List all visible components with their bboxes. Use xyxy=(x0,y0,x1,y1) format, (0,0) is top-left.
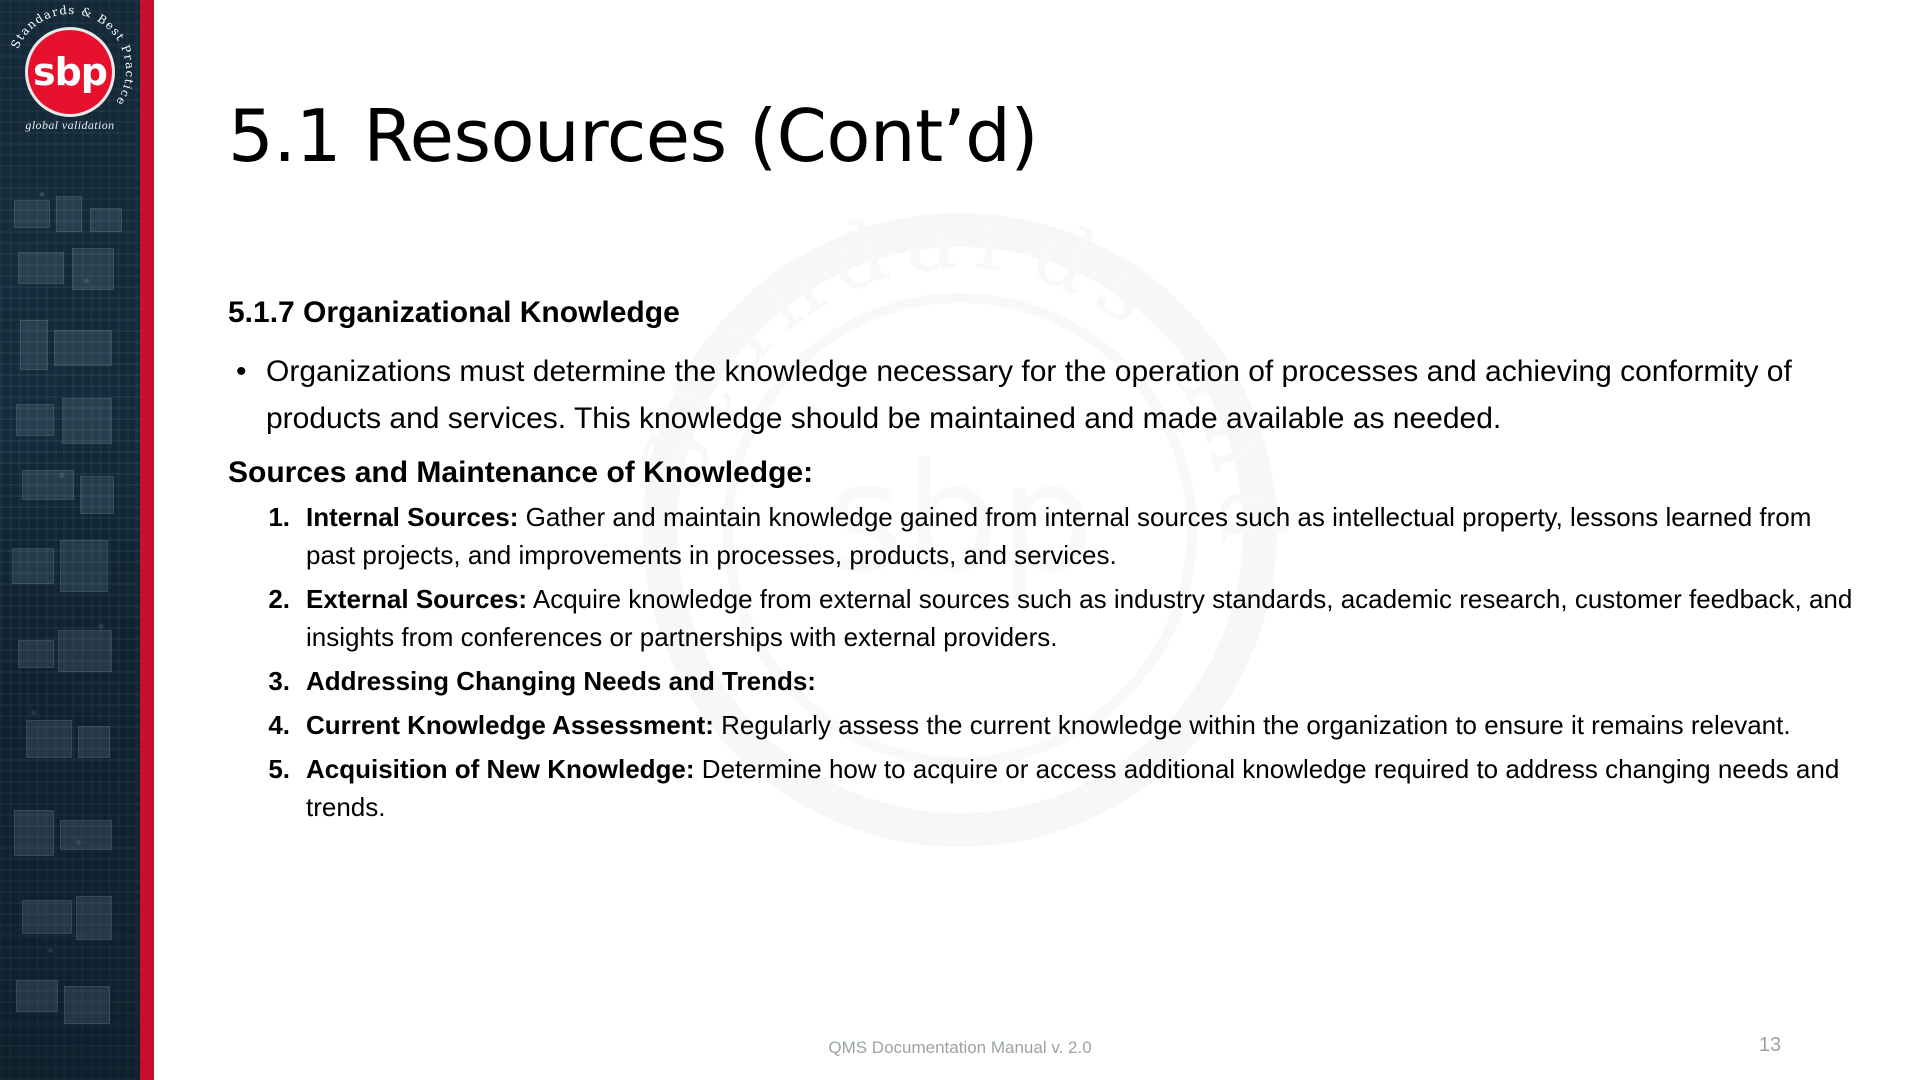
list-item: 4. Current Knowledge Assessment: Regular… xyxy=(228,706,1864,744)
list-item-body: Current Knowledge Assessment: Regularly … xyxy=(306,706,1864,744)
list-item-number: 4. xyxy=(228,706,306,744)
list-item-lead: External Sources: xyxy=(306,584,527,614)
list-item-number: 2. xyxy=(228,580,306,618)
list-item: 2. External Sources: Acquire knowledge f… xyxy=(228,580,1864,656)
numbered-list: 1. Internal Sources: Gather and maintain… xyxy=(228,498,1864,826)
logo-red-disc: sbp xyxy=(28,30,112,114)
bullet-text: Organizations must determine the knowled… xyxy=(266,348,1864,442)
page-title: 5.1 Resources (Cont’d) xyxy=(228,100,1038,172)
list-item-text: Regularly assess the current knowledge w… xyxy=(714,710,1791,740)
section-heading: 5.1.7 Organizational Knowledge xyxy=(228,296,1864,330)
list-item-lead: Current Knowledge Assessment: xyxy=(306,710,714,740)
bullet-list-item: • Organizations must determine the knowl… xyxy=(228,348,1864,442)
list-item-text: Acquire knowledge from external sources … xyxy=(306,584,1852,652)
list-item: 1. Internal Sources: Gather and maintain… xyxy=(228,498,1864,574)
slide: Standards & Best Practice sbp global val… xyxy=(0,0,1920,1080)
sbp-logo: Standards & Best Practice sbp global val… xyxy=(0,0,140,175)
list-item: 5. Acquisition of New Knowledge: Determi… xyxy=(228,750,1864,826)
accent-red-stripe xyxy=(140,0,154,1080)
section-subheading: Sources and Maintenance of Knowledge: xyxy=(228,456,1864,490)
list-item-lead: Internal Sources: xyxy=(306,502,518,532)
list-item-text: Gather and maintain knowledge gained fro… xyxy=(306,502,1811,570)
list-item-number: 1. xyxy=(228,498,306,536)
list-item-body: External Sources: Acquire knowledge from… xyxy=(306,580,1864,656)
slide-content: 5.1 Resources (Cont’d) 5.1.7 Organizatio… xyxy=(228,0,1888,1080)
list-item-lead: Acquisition of New Knowledge: xyxy=(306,754,695,784)
slide-body: 5.1.7 Organizational Knowledge • Organiz… xyxy=(228,296,1864,832)
list-item-number: 3. xyxy=(228,662,306,700)
footer-document-title: QMS Documentation Manual v. 2.0 xyxy=(0,1038,1920,1058)
logo-tagline: global validation xyxy=(0,118,140,133)
bullet-dot-icon: • xyxy=(230,348,266,395)
logo-wordmark: sbp xyxy=(28,30,112,114)
list-item-body: Acquisition of New Knowledge: Determine … xyxy=(306,750,1864,826)
list-item-body: Internal Sources: Gather and maintain kn… xyxy=(306,498,1864,574)
list-item-lead: Addressing Changing Needs and Trends: xyxy=(306,666,816,696)
list-item-number: 5. xyxy=(228,750,306,788)
list-item-body: Addressing Changing Needs and Trends: xyxy=(306,662,1864,700)
footer-page-number: 13 xyxy=(1740,1034,1800,1057)
list-item: 3. Addressing Changing Needs and Trends: xyxy=(228,662,1864,700)
